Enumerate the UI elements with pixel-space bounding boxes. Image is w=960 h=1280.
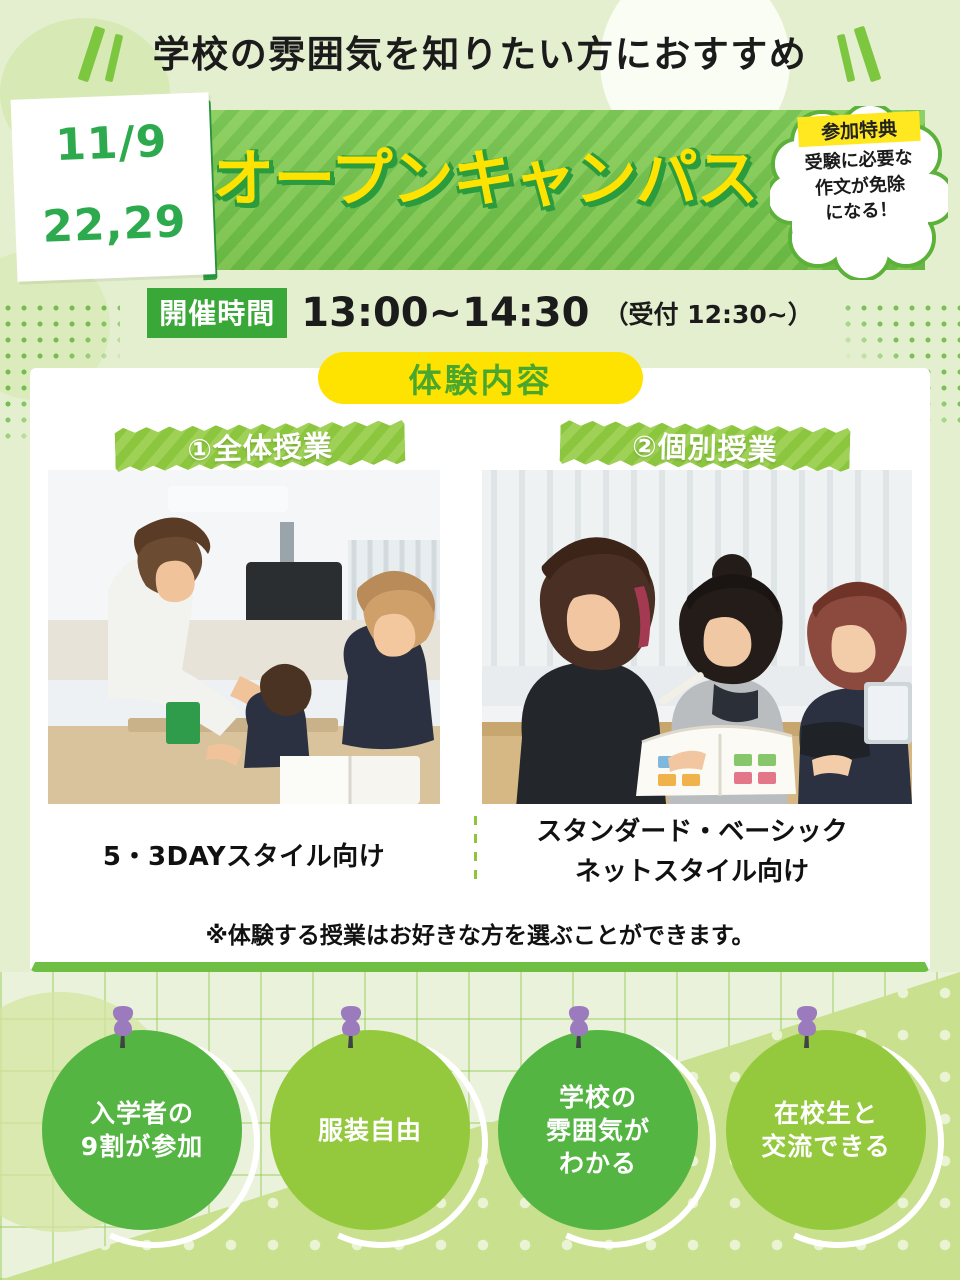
students-studying-illustration: [482, 470, 912, 804]
pushpin-icon: [106, 1006, 140, 1052]
session-photo-2: [482, 470, 912, 804]
feature-circle-3: 学校の 雰囲気が わかる: [498, 1030, 698, 1230]
feature-1-line-1: 入学者の: [81, 1097, 203, 1130]
session-caption-1: 5・3DAYスタイル向け: [48, 836, 440, 873]
time-value: 13:00~14:30: [301, 290, 589, 336]
session-caption-2-line-2: ネットスタイル向け: [472, 852, 912, 892]
bonus-badge: 参加特典 受験に必要な 作文が免除 になる！: [770, 106, 948, 280]
session-caption-2-line-1: スタンダード・ベーシック: [472, 812, 912, 852]
date-card: 11/9 22,29: [11, 92, 216, 281]
poster-canvas: 学校の雰囲気を知りたい方におすすめ 11/9 22,29 オープンキャンパス: [0, 0, 960, 1280]
feature-circle-2: 服装自由: [270, 1030, 470, 1230]
feature-4-line-1: 在校生と: [761, 1097, 891, 1130]
feature-circle-1: 入学者の 9割が参加: [42, 1030, 242, 1230]
classroom-illustration: [48, 470, 440, 804]
date-line-1: 11/9: [11, 114, 211, 173]
headline: 学校の雰囲気を知りたい方におすすめ: [0, 24, 960, 78]
bonus-badge-text: 受験に必要な 作文が免除 になる！: [784, 144, 936, 228]
pushpin-icon: [334, 1006, 368, 1052]
feature-1-line-2: 9割が参加: [81, 1130, 203, 1163]
session-caption-2: スタンダード・ベーシック ネットスタイル向け: [472, 812, 912, 893]
pushpin-icon: [790, 1006, 824, 1052]
feature-3-line-1: 学校の: [546, 1081, 650, 1114]
bonus-badge-tag: 参加特典: [797, 111, 920, 147]
session-photo-1: [48, 470, 440, 804]
time-reception: （受付 12:30~）: [603, 295, 812, 331]
feature-2-line-1: 服装自由: [318, 1114, 422, 1147]
content-pill: 体験内容: [318, 352, 643, 404]
feature-4-line-2: 交流できる: [761, 1130, 891, 1163]
date-line-2: 22,29: [15, 195, 215, 254]
pushpin-icon: [562, 1006, 596, 1052]
feature-3-line-2: 雰囲気が: [546, 1114, 650, 1147]
event-time-row: 開催時間 13:00~14:30 （受付 12:30~）: [0, 288, 960, 338]
main-title: オープンキャンパス: [200, 128, 770, 218]
selection-note: ※体験する授業はお好きな方を選ぶことができます。: [30, 916, 930, 950]
time-label: 開催時間: [147, 288, 287, 338]
feature-circle-4: 在校生と 交流できる: [726, 1030, 926, 1230]
feature-3-line-3: わかる: [546, 1147, 650, 1180]
